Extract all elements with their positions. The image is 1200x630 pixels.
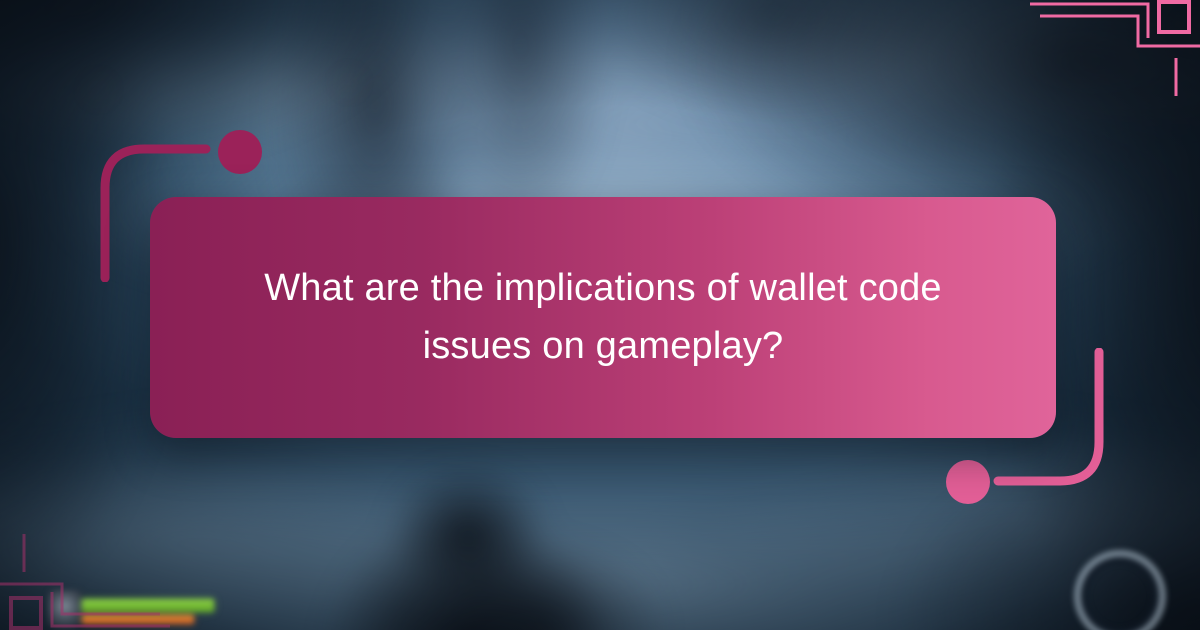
accent-dot-bottom-right [946, 460, 990, 504]
accent-dot-top-left [218, 130, 262, 174]
hud-portrait-icon [48, 590, 82, 628]
health-bar [82, 599, 214, 612]
stamina-bar [82, 615, 194, 624]
question-text: What are the implications of wallet code… [253, 260, 953, 376]
screenshot-stage: What are the implications of wallet code… [0, 0, 1200, 630]
question-card: What are the implications of wallet code… [150, 197, 1056, 438]
hud-status-bars [60, 596, 260, 630]
